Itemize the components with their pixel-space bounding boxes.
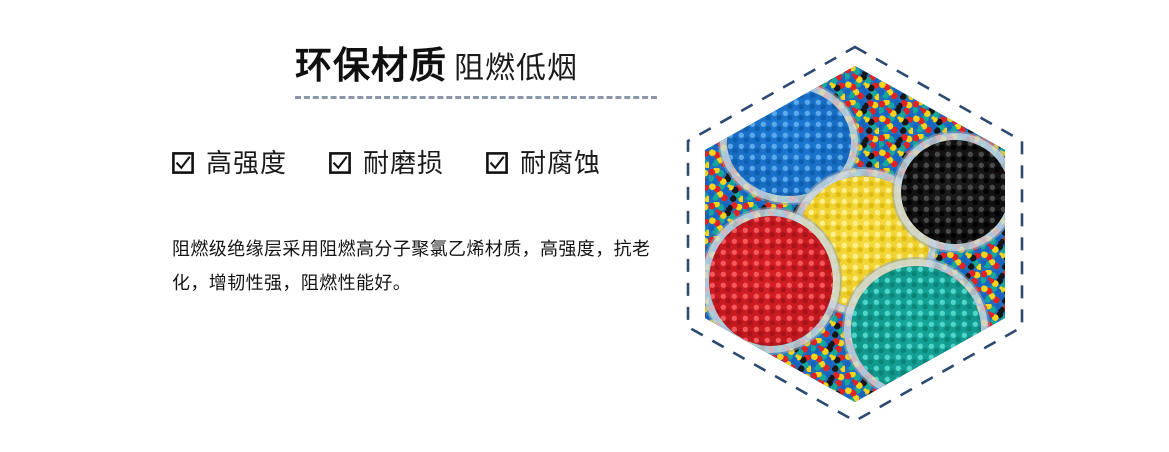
title-main-text: 环保材质 [295, 45, 447, 86]
feature-item: 耐磨损 [329, 150, 444, 176]
description-text: 阻燃级绝缘层采用阻燃高分子聚氯乙烯材质，高强度，抗老化，增韧性强，阻燃性能好。 [172, 232, 677, 300]
description-block: 阻燃级绝缘层采用阻燃高分子聚氯乙烯材质，高强度，抗老化，增韧性强，阻燃性能好。 [172, 232, 677, 300]
feature-item: 耐腐蚀 [486, 150, 601, 176]
product-photo-hexagon [686, 45, 1024, 423]
red-pellets [709, 216, 833, 346]
banner-root: 环保材质阻燃低烟 高强度 [0, 0, 1169, 452]
black-pellet-bowl [901, 140, 1005, 244]
black-pellets [901, 140, 1005, 244]
feature-label: 耐腐蚀 [520, 150, 601, 176]
feature-label: 高强度 [206, 150, 287, 176]
checked-box-icon [486, 152, 508, 174]
feature-item: 高强度 [172, 150, 287, 176]
title-line: 环保材质阻燃低烟 [295, 47, 660, 84]
checked-box-icon [329, 152, 351, 174]
text-column: 环保材质阻燃低烟 高强度 [0, 0, 690, 452]
checked-box-icon [172, 152, 194, 174]
red-pellet-bowl [709, 216, 833, 346]
page-title: 环保材质阻燃低烟 [295, 47, 660, 84]
feature-list: 高强度 耐磨损 耐腐蚀 [172, 150, 601, 176]
title-sub-text: 阻燃低烟 [454, 52, 578, 85]
feature-label: 耐磨损 [363, 150, 444, 176]
title-divider [295, 96, 657, 99]
